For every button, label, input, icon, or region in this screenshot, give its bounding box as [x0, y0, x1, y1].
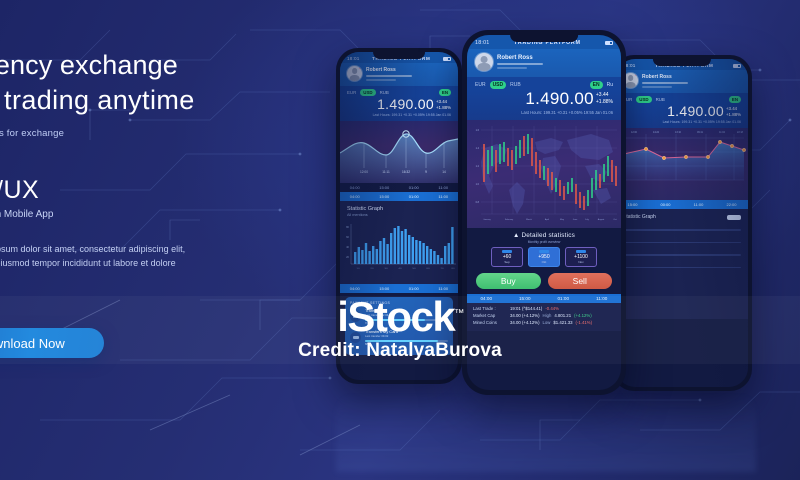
svg-text:11:02: 11:02 — [719, 131, 725, 134]
list-divider — [623, 229, 741, 231]
time-tick: 01:00 — [399, 183, 429, 192]
time-tab[interactable]: 11:00 — [429, 192, 459, 201]
currency-usd-active[interactable]: USD — [360, 89, 375, 96]
time-axis-right[interactable]: 15:00 00:00 11:00 22:00 — [616, 200, 748, 209]
profile-meta-bar — [497, 63, 543, 65]
time-tick: 15:00 — [370, 183, 400, 192]
svg-text:6.0: 6.0 — [426, 268, 430, 270]
status-icons — [605, 41, 613, 45]
status-time: 18:01 — [475, 40, 490, 46]
currency-selector[interactable]: EUR USD RUB EN — [616, 93, 748, 103]
svg-text:1.0: 1.0 — [356, 268, 360, 270]
list-divider — [623, 242, 741, 244]
time-axis[interactable]: 04:00 15:00 01:00 11:00 — [340, 192, 458, 201]
status-time: 18:01 — [347, 56, 360, 61]
sell-button[interactable]: Sell — [548, 273, 613, 289]
quote-price: 1.490.00 — [525, 89, 594, 109]
svg-text:1.6: 1.6 — [476, 129, 480, 132]
statistic-title: Statistic Graph — [340, 201, 458, 212]
time-tab[interactable]: 04:00 — [340, 192, 370, 201]
svg-text:5.0: 5.0 — [412, 268, 416, 270]
svg-text:1.0: 1.0 — [476, 183, 480, 186]
profile-meta-bar — [366, 75, 412, 77]
candlestick-chart: 1.61.41.2 1.00.8 — [467, 120, 621, 228]
svg-text:4.0: 4.0 — [398, 268, 402, 270]
uiux-title: UI/UX — [0, 176, 53, 205]
description-line-2: sed do eiusmod tempor incididunt ut labo… — [0, 257, 185, 271]
svg-text:2.0: 2.0 — [370, 268, 374, 270]
svg-text:January: January — [483, 218, 491, 221]
currency-selector[interactable]: EUR USD RUB EN — [340, 86, 458, 96]
notification-badge-icon — [359, 66, 362, 69]
hero-copy: Currency exchange app, trading anytime B… — [0, 48, 272, 139]
language-label: Ru — [607, 82, 613, 88]
currency-selector[interactable]: EUR USD RUB EN Ru — [467, 77, 621, 89]
quote-last-hours: Last Hours: 199.31 +0.31 +0.05% 19:55 Ja… — [623, 120, 741, 124]
quote-panel: 1.490.00 +3.44 +1.88% Last Hours: 199.31… — [340, 96, 458, 121]
svg-text:August: August — [598, 218, 605, 221]
language-pill[interactable]: EN — [439, 89, 451, 96]
hero-subline: Best solutions for exchange — [0, 128, 272, 139]
svg-text:11:11: 11:11 — [382, 170, 390, 174]
language-pill[interactable]: EN — [590, 81, 603, 89]
notification-badge-icon — [490, 53, 493, 56]
quote-delta-abs: +3.44 — [726, 106, 737, 111]
quote-row: 1.490.00 +3.44 +1.88% — [347, 96, 451, 112]
stat-card-sep[interactable]: +60 Sep — [491, 247, 523, 267]
time-tab[interactable]: 01:00 — [399, 284, 429, 293]
trade-buttons: Buy Sell — [467, 271, 621, 294]
page-title: Currency exchange app, trading anytime — [0, 48, 272, 117]
statistic-subtitle: All mentions — [340, 212, 458, 220]
quote-delta-pct: +1.88% — [726, 112, 741, 117]
battery-icon — [733, 64, 741, 68]
area-chart-svg: 12:0011:1116:32 914 — [340, 121, 458, 183]
lower-panel-title: Statistic Graph — [623, 214, 656, 220]
stat-card-nov[interactable]: +1100 Nov — [565, 247, 597, 267]
svg-text:June: June — [573, 219, 578, 221]
poster-stage: Currency exchange app, trading anytime B… — [0, 0, 800, 480]
time-axis-dim: 04:00 15:00 01:00 11:00 — [340, 183, 458, 192]
time-tab[interactable]: 04:00 — [340, 284, 370, 293]
time-tick: 11:00 — [429, 183, 459, 192]
currency-rub[interactable]: RUB — [380, 90, 389, 95]
svg-text:20: 20 — [346, 255, 349, 259]
svg-text:9: 9 — [425, 170, 427, 174]
notch — [510, 35, 578, 42]
notification-badge-icon — [635, 73, 638, 76]
svg-text:Oct: Oct — [613, 218, 617, 221]
time-tab[interactable]: 00:00 — [649, 200, 682, 209]
svg-text:March: March — [526, 218, 533, 221]
time-tab[interactable]: 11:00 — [682, 200, 715, 209]
status-icons — [443, 57, 451, 61]
quote-delta-abs: +3.44 — [436, 99, 447, 104]
svg-text:8.0: 8.0 — [451, 268, 455, 270]
quote-last-hours: Last Hours: 199.31 +0.31 +0.05% 19:55 Ja… — [347, 113, 451, 117]
currency-rub[interactable]: RUB — [510, 82, 521, 88]
time-tab[interactable]: 22:00 — [715, 200, 748, 209]
svg-text:May: May — [560, 219, 565, 221]
time-axis-bottom[interactable]: 04:00 15:00 01:00 11:00 — [340, 284, 458, 293]
language-pill[interactable]: EN — [729, 96, 741, 103]
svg-text:22:18: 22:18 — [737, 131, 744, 134]
user-name: Robert Ross — [366, 67, 412, 73]
quote-price: 1.490.00 — [377, 96, 434, 112]
quote-delta: +3.44 +1.88% — [436, 96, 451, 111]
quote-delta-abs: +3.44 — [596, 92, 609, 98]
currency-usd-active[interactable]: USD — [490, 81, 507, 89]
svg-text:60: 60 — [346, 235, 349, 239]
detailed-statistics-title: Detailed statistics — [521, 232, 575, 239]
svg-text:09:41: 09:41 — [697, 131, 704, 134]
chart-icon: ▲ — [513, 232, 520, 239]
svg-text:July: July — [585, 219, 590, 221]
svg-text:12:00: 12:00 — [360, 170, 368, 174]
quote-price: 1.490.00 — [667, 103, 724, 119]
list-divider — [623, 254, 741, 256]
stat-card-bar — [502, 250, 512, 253]
stat-cards: +60 Sep +950 Okt +1100 Nov — [467, 247, 621, 271]
headline-line-2: app, trading anytime — [0, 83, 272, 118]
quote-delta-pct: +1.88% — [436, 105, 451, 110]
stat-card-bar — [539, 250, 549, 253]
line-chart-svg: 12:0014:2213:10 09:4111:0222:18 — [616, 128, 748, 200]
hero-description: Lorem ipsum dolor sit amet, consectetur … — [0, 243, 185, 270]
time-tick: 04:00 — [340, 183, 370, 192]
svg-text:3.0: 3.0 — [384, 268, 388, 270]
detailed-statistics-header: ▲ Detailed statistics — [467, 228, 621, 240]
svg-text:1.2: 1.2 — [476, 165, 480, 168]
svg-text:40: 40 — [346, 245, 349, 249]
svg-text:13:10: 13:10 — [675, 131, 682, 134]
svg-text:April: April — [545, 218, 550, 221]
time-tab[interactable]: 11:00 — [429, 284, 459, 293]
currency-eur[interactable]: EUR — [475, 82, 486, 88]
stat-card-label: Nov — [568, 260, 594, 264]
buy-button[interactable]: Buy — [476, 273, 541, 289]
currency-eur[interactable]: EUR — [347, 90, 356, 95]
currency-usd-active[interactable]: USD — [636, 96, 651, 103]
profile-meta-bar — [642, 82, 688, 84]
candlestick-chart-svg: 1.61.41.2 1.00.8 — [467, 120, 621, 228]
statistic-bar-chart: 80604020 — [340, 220, 458, 276]
svg-text:16:32: 16:32 — [402, 170, 410, 174]
profile-meta-bar-2 — [642, 86, 672, 88]
battery-icon — [443, 57, 451, 61]
quote-delta: +3.44 +1.88% — [596, 89, 613, 106]
profile-bar[interactable]: Robert Ross — [340, 63, 458, 86]
quote-delta: +3.44 +1.88% — [726, 103, 741, 118]
area-chart: 12:0011:1116:32 914 — [340, 121, 458, 183]
profile-meta-bar-2 — [497, 67, 527, 69]
statistic-panel: Statistic Graph All mentions 80604020 — [340, 201, 458, 284]
uiux-block: UI/UX Design Mobile App — [0, 176, 53, 220]
user-name: Robert Ross — [642, 74, 688, 80]
profile-bar[interactable]: Robert Ross — [467, 49, 621, 77]
watermark-band — [0, 296, 800, 364]
quote-row: 1.490.00 +3.44 +1.88% — [623, 103, 741, 119]
svg-text:12:00: 12:00 — [631, 131, 638, 134]
quote-row: 1.490.00 +3.44 +1.88% — [475, 89, 613, 109]
uiux-subtitle: Design Mobile App — [0, 209, 53, 220]
stat-card-okt[interactable]: +950 Okt — [528, 247, 560, 267]
profile-meta-bar-2 — [366, 79, 396, 81]
profile-bar[interactable]: Robert Ross — [616, 70, 748, 93]
svg-text:February: February — [505, 218, 514, 221]
quote-last-hours: Last Hours: 199.31 +0.31 +0.05% 19:55 Ja… — [475, 110, 613, 115]
quote-panel: 1.490.00 +3.44 +1.88% Last Hours: 199.31… — [467, 89, 621, 120]
quote-delta-pct: +1.88% — [596, 99, 613, 105]
quote-panel: 1.490.00 +3.44 +1.88% Last Hours: 199.31… — [616, 103, 748, 128]
svg-text:7.0: 7.0 — [440, 268, 444, 270]
headline-line-1: Currency exchange — [0, 48, 272, 83]
status-icons — [733, 64, 741, 68]
detailed-statistics-subtitle: Monthly profit overview — [467, 240, 621, 247]
notch — [373, 52, 425, 59]
svg-text:80: 80 — [346, 225, 349, 229]
time-tab[interactable]: 01:00 — [399, 192, 429, 201]
stat-card-bar — [576, 250, 586, 253]
user-name: Robert Ross — [497, 55, 543, 61]
description-line-1: Lorem ipsum dolor sit amet, consectetur … — [0, 243, 185, 257]
time-tab[interactable]: 15:00 — [370, 284, 400, 293]
avatar[interactable] — [347, 66, 362, 81]
notch — [653, 59, 711, 66]
svg-text:1.4: 1.4 — [476, 147, 480, 150]
toggle-switch[interactable] — [727, 215, 741, 220]
svg-text:14:22: 14:22 — [653, 131, 660, 134]
stat-card-label: Okt — [531, 260, 557, 264]
list-divider — [623, 267, 741, 269]
avatar[interactable] — [475, 53, 493, 71]
time-tab[interactable]: 15:00 — [370, 192, 400, 201]
line-chart: 12:0014:2213:10 09:4111:0222:18 — [616, 128, 748, 200]
stat-card-label: Sep — [494, 260, 520, 264]
battery-icon — [605, 41, 613, 45]
currency-rub[interactable]: RUB — [656, 97, 665, 102]
svg-text:0.8: 0.8 — [476, 201, 480, 204]
svg-text:14: 14 — [442, 170, 446, 174]
